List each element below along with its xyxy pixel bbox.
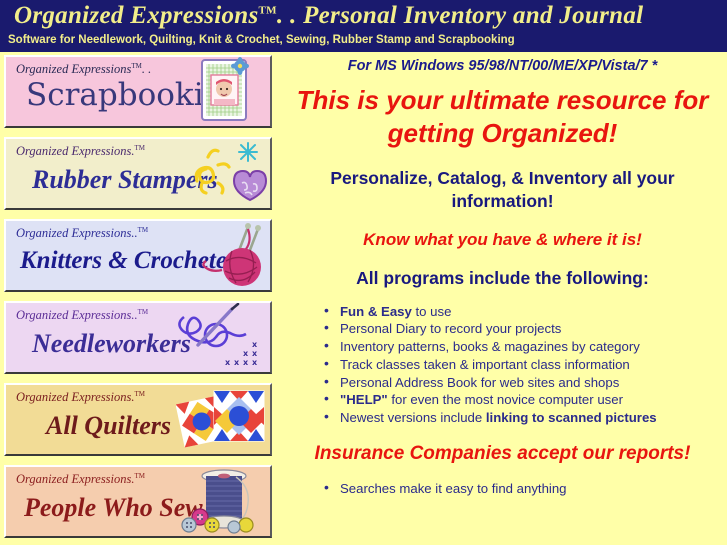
banner-brand-line: Organized Expressions.TM — [16, 390, 145, 405]
banner-people-who-sew[interactable]: Organized Expressions.TM People Who Sew — [4, 465, 272, 538]
banner-needleworkers[interactable]: Organized Expressions..TM Needleworkers … — [4, 301, 272, 374]
list-item: Newest versions include linking to scann… — [322, 409, 727, 427]
banner-knitters-crocheters[interactable]: Organized Expressions..TM Knitters & Cro… — [4, 219, 272, 292]
product-banner-column: Organized ExpressionsTM. . Scrapbooking — [0, 52, 278, 545]
scrapbook-page-icon — [176, 57, 268, 126]
banner-label: All Quilters — [46, 411, 171, 441]
list-item: Track classes taken & important class in… — [322, 356, 727, 374]
feature-list: Fun & Easy to use Personal Diary to reco… — [322, 303, 727, 427]
banner-scrapbooking[interactable]: Organized ExpressionsTM. . Scrapbooking — [4, 55, 272, 128]
feature-text: Personal Diary to record your projects — [340, 321, 561, 336]
page-title-main: Organized Expressions — [14, 2, 259, 29]
site-header: Organized ExpressionsTM. . Personal Inve… — [0, 0, 727, 52]
feature-bold-lead: Fun & Easy — [340, 304, 412, 319]
banner-brand-line: Organized ExpressionsTM. . — [16, 62, 151, 77]
banner-brand-line: Organized Expressions.TM — [16, 144, 145, 159]
insurance-line: Insurance Companies accept our reports! — [278, 441, 727, 466]
feature-list-secondary: Searches make it easy to find anything — [322, 480, 727, 498]
features-heading: All programs include the following: — [278, 268, 727, 289]
page-body: Organized ExpressionsTM. . Scrapbooking — [0, 52, 727, 545]
svg-text:x: x — [243, 349, 249, 358]
svg-text:x: x — [225, 358, 231, 367]
svg-text:x: x — [252, 349, 258, 358]
banner-rubber-stampers[interactable]: Organized Expressions.TM Rubber Stampers — [4, 137, 272, 210]
svg-text:x: x — [252, 358, 258, 367]
svg-text:x: x — [234, 358, 240, 367]
thread-spool-buttons-icon — [176, 467, 268, 536]
banner-brand-line: Organized Expressions..TM — [16, 308, 148, 323]
page-title: Organized ExpressionsTM. . Personal Inve… — [14, 2, 643, 30]
feature-text: Newest versions include — [340, 410, 486, 425]
marketing-content: For MS Windows 95/98/NT/00/ME/XP/Vista/7… — [278, 52, 727, 545]
feature-bold-tail: linking to scanned pictures — [486, 410, 657, 425]
headline: This is your ultimate resource for getti… — [278, 84, 727, 151]
know-line: Know what you have & where it is! — [278, 230, 727, 250]
list-item: Searches make it easy to find anything — [322, 480, 727, 498]
list-item: Fun & Easy to use — [322, 303, 727, 321]
feature-bold-lead: "HELP" — [340, 392, 388, 407]
banner-label: Needleworkers — [32, 329, 191, 359]
banner-brand-line: Organized Expressions.TM — [16, 472, 145, 487]
yarn-ball-needles-icon — [176, 221, 268, 290]
tagline: Personalize, Catalog, & Inventory all yo… — [278, 167, 727, 214]
list-item: Inventory patterns, books & magazines by… — [322, 338, 727, 356]
list-item: "HELP" for even the most novice computer… — [322, 391, 727, 409]
feature-text: Track classes taken & important class in… — [340, 357, 630, 372]
svg-text:x: x — [243, 358, 249, 367]
feature-text: Inventory patterns, books & magazines by… — [340, 339, 640, 354]
feature-text: Searches make it easy to find anything — [340, 481, 567, 496]
page-subtitle: Software for Needlework, Quilting, Knit … — [8, 34, 515, 46]
os-compatibility-line: For MS Windows 95/98/NT/00/ME/XP/Vista/7… — [278, 58, 727, 74]
list-item: Personal Address Book for web sites and … — [322, 374, 727, 392]
feature-text: Personal Address Book for web sites and … — [340, 375, 619, 390]
feature-text: for even the most novice computer user — [388, 392, 623, 407]
banner-brand-line: Organized Expressions..TM — [16, 226, 148, 241]
needle-thread-crossstitch-icon: x xx xxxx — [176, 303, 268, 372]
banner-all-quilters[interactable]: Organized Expressions.TM All Quilters — [4, 383, 272, 456]
svg-text:x: x — [252, 340, 258, 349]
feature-text: to use — [412, 304, 452, 319]
page-title-rest: . . Personal Inventory and Journal — [277, 2, 644, 29]
stamp-swirls-icon — [176, 139, 268, 208]
trademark-symbol: TM — [259, 5, 277, 17]
quilt-blocks-icon — [176, 385, 268, 454]
list-item: Personal Diary to record your projects — [322, 320, 727, 338]
